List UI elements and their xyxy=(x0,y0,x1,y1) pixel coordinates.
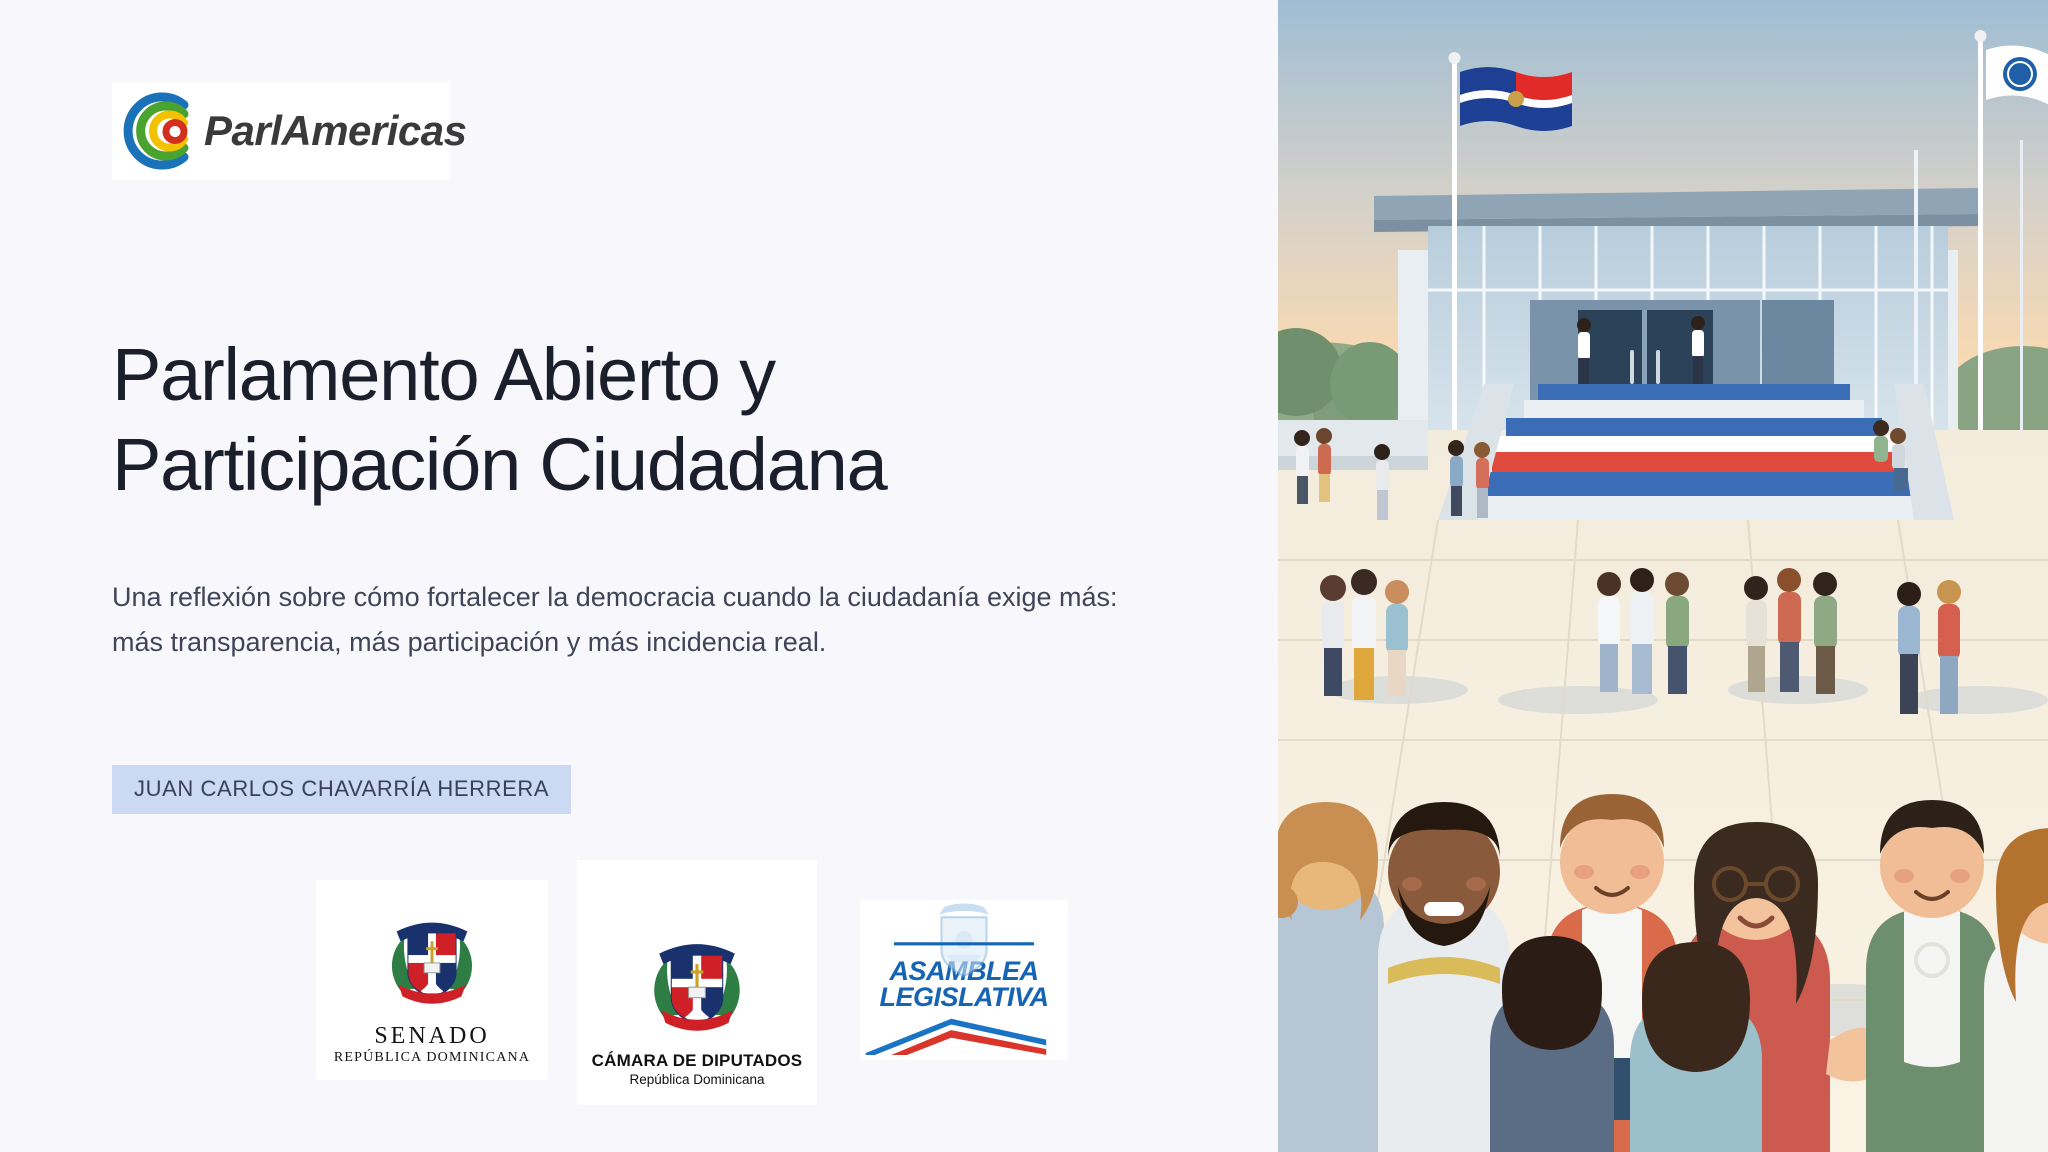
partner-camara-line1: CÁMARA DE DIPUTADOS xyxy=(577,1051,817,1071)
brand-wordmark: ParlAmericas xyxy=(204,107,467,155)
partner-senado-line1: SENADO xyxy=(316,1023,548,1050)
dominican-republic-coat-of-arms-icon xyxy=(634,920,760,1051)
costa-rica-coat-of-arms-icon xyxy=(889,902,1039,1015)
page-title: Parlamento Abierto y Participación Ciuda… xyxy=(112,330,1112,509)
page-subtitle: Una reflexión sobre cómo fortalecer la d… xyxy=(112,575,1122,666)
partner-senado-line2: REPÚBLICA DOMINICANA xyxy=(316,1050,548,1066)
slide-root: ParlAmericas Parlamento Abierto y Partic… xyxy=(0,0,2048,1152)
hero-illustration xyxy=(1278,0,2048,1152)
partner-card-camara-text: CÁMARA DE DIPUTADOS República Dominicana xyxy=(577,1051,817,1087)
partner-card-senado-text: SENADO REPÚBLICA DOMINICANA xyxy=(316,1023,548,1066)
left-content-panel: ParlAmericas Parlamento Abierto y Partic… xyxy=(0,0,1278,1152)
page-title-line-1: Parlamento Abierto y xyxy=(112,330,1112,420)
parlamericas-logo[interactable]: ParlAmericas xyxy=(112,82,450,180)
partner-card-asamblea-legislativa[interactable]: ASAMBLEA LEGISLATIVA xyxy=(860,900,1068,1060)
parlamericas-arc-logo-icon xyxy=(118,89,202,173)
partner-card-senado[interactable]: SENADO REPÚBLICA DOMINICANA xyxy=(316,880,548,1080)
costa-rica-ribbon-icon xyxy=(860,1011,1068,1060)
dominican-republic-coat-of-arms-icon xyxy=(373,900,491,1023)
partner-camara-line2: República Dominicana xyxy=(577,1072,817,1087)
page-title-line-2: Participación Ciudadana xyxy=(112,420,1112,510)
author-badge: JUAN CARLOS CHAVARRÍA HERRERA xyxy=(112,765,571,814)
partner-card-camara-diputados[interactable]: CÁMARA DE DIPUTADOS República Dominicana xyxy=(577,860,817,1105)
partner-logos: SENADO REPÚBLICA DOMINICANA xyxy=(112,860,1172,1130)
